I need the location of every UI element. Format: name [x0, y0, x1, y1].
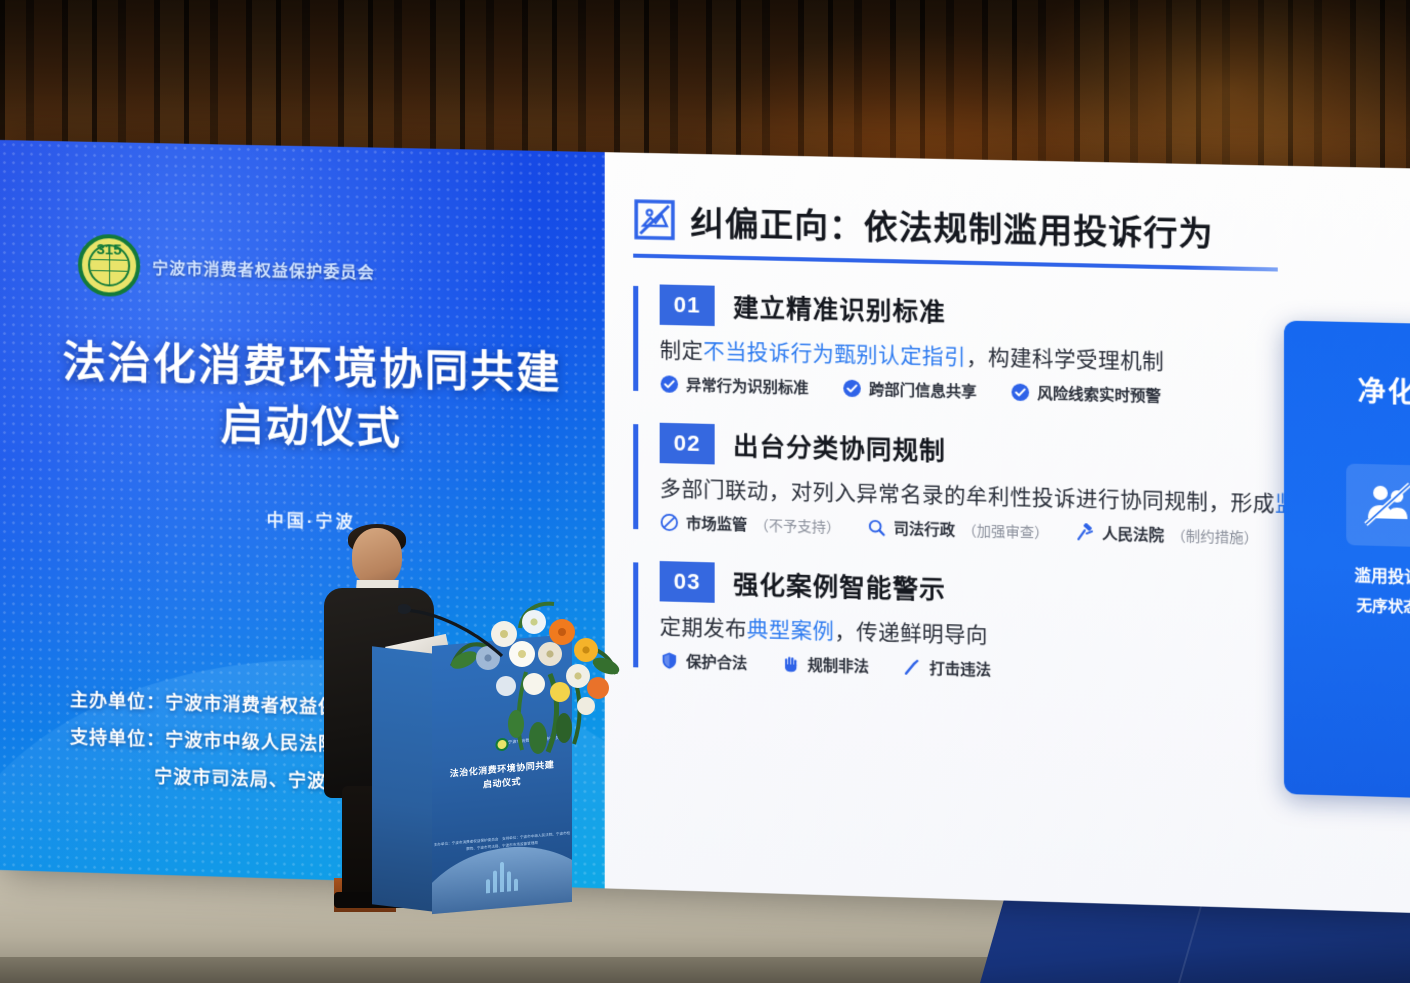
- tag-item: 司法行政 （加强审查）: [867, 517, 1049, 543]
- tag-item: 异常行为识别标准: [660, 373, 816, 398]
- tag-label: 打击违法: [929, 657, 991, 680]
- desc-post: ，传递鲜明导向: [834, 620, 988, 647]
- content-title-row: 纠偏正向：依法规制滥用投诉行为: [633, 195, 1410, 261]
- slide-title: 法治化消费环境协同共建 启动仪式: [60, 333, 564, 464]
- microphone: [398, 596, 518, 686]
- shield-icon: [660, 651, 679, 671]
- tag-label: 司法行政: [894, 517, 956, 540]
- tag-item: 市场监管 （不予支持）: [660, 512, 841, 538]
- globe-shape: [88, 244, 130, 287]
- prohibition-icon: [660, 513, 679, 533]
- section-number: 01: [660, 284, 715, 326]
- podium-side: [372, 646, 434, 912]
- section-heading: 建立精准识别标准: [733, 288, 946, 329]
- tag-label: 风险线索实时预警: [1037, 382, 1161, 406]
- section-heading: 出台分类协同规制: [733, 427, 946, 469]
- tag-note: （不予支持）: [754, 514, 840, 536]
- desc-post: ，构建科学受理机制: [966, 346, 1164, 374]
- hammer-icon: [903, 657, 922, 677]
- no-image-slash-icon: [633, 198, 676, 241]
- tag-item: 打击违法: [903, 656, 998, 680]
- right-callout-panel: 净化 滥用投诉 无序状态: [1284, 321, 1410, 800]
- section-accent-bar: [633, 424, 638, 529]
- tag-note: （加强审查）: [962, 520, 1048, 542]
- section-heading: 强化案例智能警示: [733, 565, 946, 607]
- section-number: 03: [660, 561, 715, 603]
- no-people-crowd-icon: [1360, 477, 1410, 533]
- tag-label: 异常行为识别标准: [686, 374, 808, 398]
- organization-row: 315 宁波市消费者权益保护委员会: [78, 234, 564, 307]
- speaker-head: [352, 528, 402, 586]
- tag-label: 跨部门信息共享: [869, 378, 977, 402]
- right-panel-title: 净化: [1284, 367, 1410, 412]
- slide-content-panel: 纠偏正向：依法规制滥用投诉行为 01 建立精准识别标准 制定不当投诉行为甄别认定…: [605, 152, 1410, 914]
- check-circle-icon: [842, 379, 861, 399]
- section-number: 02: [660, 423, 715, 465]
- desc-pre: 制定: [660, 339, 704, 363]
- check-circle-icon: [660, 374, 679, 394]
- 315-logo-icon: 315: [78, 234, 140, 297]
- section-accent-bar: [633, 286, 638, 391]
- conference-stage-scene: 315 宁波市消费者权益保护委员会 法治化消费环境协同共建 启动仪式 中国·宁波…: [0, 0, 1410, 983]
- tag-item: 跨部门信息共享: [842, 378, 983, 403]
- desc-pre: 多部门联动，对列入异常名录的牟利性投诉进行协同规制，形成: [660, 477, 1275, 516]
- desc-highlight: 典型案例: [747, 618, 834, 644]
- tag-item: 保护合法: [660, 650, 755, 674]
- desc-highlight: 不当投诉行为甄别认定指引: [703, 340, 966, 369]
- desc-pre: 定期发布: [660, 616, 747, 642]
- tag-item: 规制非法: [781, 653, 876, 677]
- slide-title-line2: 启动仪式: [60, 393, 564, 465]
- podium-skyline-graphic: [486, 861, 518, 894]
- organization-name: 宁波市消费者权益保护委员会: [152, 254, 375, 283]
- tag-item: 人民法院 （制约措施）: [1075, 522, 1258, 548]
- tag-note: （制约措施）: [1171, 525, 1258, 548]
- right-panel-icon-box: [1346, 464, 1410, 548]
- tag-label: 规制非法: [808, 654, 869, 677]
- tag-item: 风险线索实时预警: [1011, 381, 1169, 406]
- check-circle-icon: [1011, 382, 1031, 402]
- tag-label: 人民法院: [1102, 523, 1164, 546]
- title-underline: [633, 254, 1278, 272]
- tag-label: 市场监管: [686, 512, 747, 535]
- led-screen-slide: 315 宁波市消费者权益保护委员会 法治化消费环境协同共建 启动仪式 中国·宁波…: [0, 140, 1410, 914]
- right-panel-caption-1: 滥用投诉: [1284, 560, 1410, 590]
- content-title: 纠偏正向：依法规制滥用投诉行为: [690, 196, 1213, 256]
- search-icon: [867, 518, 886, 538]
- right-panel-caption-2: 无序状态: [1284, 592, 1410, 619]
- stop-hand-icon: [781, 654, 800, 674]
- slide-title-line1: 法治化消费环境协同共建: [60, 333, 564, 404]
- tag-label: 保护合法: [686, 651, 747, 674]
- gavel-icon: [1075, 523, 1095, 543]
